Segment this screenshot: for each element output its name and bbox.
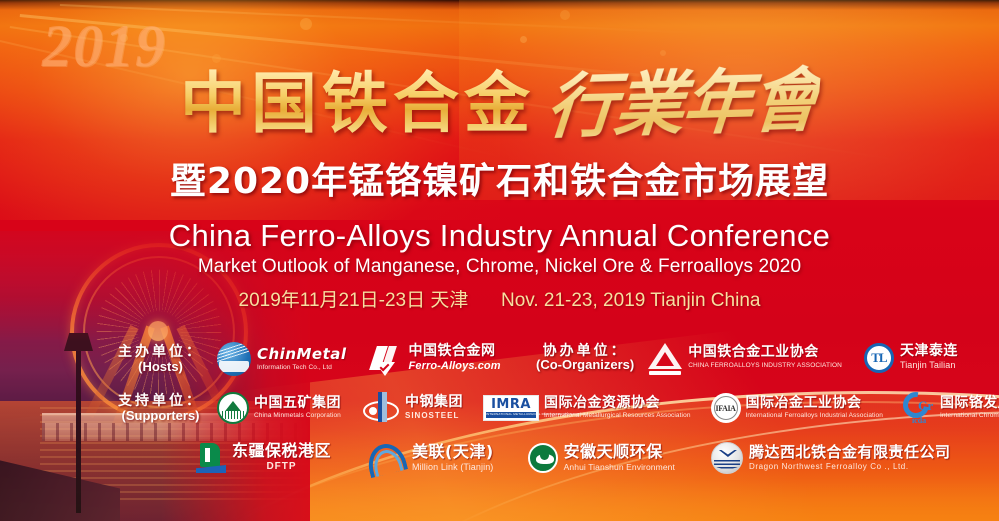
logo-imra: IMRAINTERNATIONAL METALLURGICAL RESOURCE… bbox=[483, 395, 691, 421]
supporters-label: 支持单位： (Supporters) bbox=[118, 392, 203, 423]
logo-anhui-tianshun-name: 安徽天顺环保 bbox=[564, 443, 675, 461]
logo-cfia: 中国铁合金工业协会 CHINA FERROALLOYS INDUSTRY ASS… bbox=[648, 343, 842, 373]
sponsor-row-supporters: 支持单位： (Supporters) 中国五矿集团 China Minmetal… bbox=[118, 392, 999, 424]
main-title-calligraphy: 行業年會 bbox=[543, 44, 824, 152]
logo-million-link-name: 美联(天津) bbox=[412, 443, 494, 461]
million-link-icon bbox=[367, 444, 407, 472]
logo-million-link: 美联(天津) Million Link (Tianjin) bbox=[367, 443, 494, 473]
logo-anhui-tianshun: 安徽天顺环保 Anhui Tianshun Environment bbox=[528, 443, 675, 473]
china-minmetals-icon bbox=[217, 392, 249, 424]
logo-anhui-tianshun-tagline: Anhui Tianshun Environment bbox=[564, 462, 675, 473]
logo-cfia-name: 中国铁合金工业协会 bbox=[688, 345, 842, 360]
icda-icon: Cricda bbox=[903, 392, 937, 424]
logo-dftp-name: 东疆保税港区 bbox=[232, 442, 331, 460]
main-title-chinese: 中国铁合金 bbox=[180, 50, 535, 146]
title-english-line2: Market Outlook of Manganese, Chrome, Nic… bbox=[0, 256, 999, 278]
ifaia-icon: IFAIA bbox=[711, 393, 741, 423]
imra-icon: IMRAINTERNATIONAL METALLURGICAL RESOURCE… bbox=[483, 395, 539, 421]
sponsor-row-co-organizers: 协办单位： (Co-Organizers) 中国铁合金工业协会 CHINA FE… bbox=[536, 342, 972, 373]
event-date-english: Nov. 21-23, 2019 Tianjin China bbox=[501, 290, 760, 311]
logo-dragon-northwest-name: 腾达西北铁合金有限责任公司 bbox=[749, 444, 951, 461]
co-organizers-label: 协办单位： (Co-Organizers) bbox=[536, 342, 634, 373]
logo-imra-name: 国际冶金资源协会 bbox=[544, 396, 691, 411]
logo-dragon-northwest: 腾达西北铁合金有限责任公司 Dragon Northwest Ferroallo… bbox=[711, 442, 951, 474]
logo-dftp-tagline: DFTP bbox=[232, 461, 331, 474]
co-organizers-label-en: (Co-Organizers) bbox=[536, 358, 634, 373]
logo-ferro-alloys-url: Ferro-Alloys.com bbox=[409, 360, 501, 374]
dragon-northwest-icon bbox=[711, 442, 743, 474]
logo-ferro-alloys: 中国铁合金网 Ferro-Alloys.com bbox=[371, 344, 501, 374]
logo-icda: Cricda 国际铬发展协会 International Chrome Deve… bbox=[903, 392, 999, 424]
logo-dftp: 东疆保税港区 DFTP bbox=[196, 442, 331, 473]
sponsor-row-hosts: 主办单位： (Hosts) ChinMetal Information Tech… bbox=[118, 342, 515, 376]
supporters-label-cn: 支持单位： bbox=[118, 392, 203, 408]
cfia-icon bbox=[648, 343, 682, 373]
logo-sinosteel-name: 中钢集团 bbox=[405, 395, 463, 410]
logo-sinosteel-tagline: SINOSTEEL bbox=[405, 411, 463, 421]
logo-icda-tagline: International Chrome Development Associa… bbox=[940, 412, 999, 420]
logo-ifaia-tagline: International Ferroalloys Industrial Ass… bbox=[746, 412, 883, 420]
sinosteel-icon bbox=[361, 392, 401, 424]
logo-chinmetal: ChinMetal Information Tech Co., Ltd bbox=[217, 342, 347, 376]
conference-banner: 2019 中国铁合金 行業年會 暨2020年锰铬镍矿石和铁合金市场展望 Chin… bbox=[0, 0, 999, 521]
logo-china-minmetals-tagline: China Minmetals Corporation bbox=[254, 412, 341, 420]
logo-chinmetal-tagline: Information Tech Co., Ltd bbox=[257, 364, 347, 372]
event-date-chinese: 2019年11月21日-23日 天津 bbox=[239, 290, 469, 311]
sponsor-row-supporters-2: 东疆保税港区 DFTP 美联(天津) Million Link (Tianjin… bbox=[196, 442, 964, 474]
logo-tianjin-tailian-name: 天津泰连 bbox=[900, 344, 958, 359]
subtitle-chinese: 暨2020年锰铬镍矿石和铁合金市场展望 bbox=[0, 152, 999, 204]
logo-million-link-tagline: Million Link (Tianjin) bbox=[412, 462, 494, 473]
hosts-label-cn: 主办单位： bbox=[118, 343, 203, 359]
logo-sinosteel: 中钢集团 SINOSTEEL bbox=[361, 392, 463, 424]
sponsors-section: 主办单位： (Hosts) ChinMetal Information Tech… bbox=[0, 336, 999, 516]
supporters-label-en: (Supporters) bbox=[118, 409, 203, 424]
hosts-label: 主办单位： (Hosts) bbox=[118, 343, 203, 374]
hosts-label-en: (Hosts) bbox=[118, 360, 203, 375]
logo-icda-name: 国际铬发展协会 bbox=[940, 396, 999, 411]
logo-ferro-alloys-name: 中国铁合金网 bbox=[409, 344, 501, 359]
event-date-line: 2019年11月21日-23日 天津 Nov. 21-23, 2019 Tian… bbox=[0, 285, 999, 312]
logo-chinmetal-name: ChinMetal bbox=[257, 346, 347, 363]
chinmetal-globe-icon bbox=[217, 342, 251, 376]
tianjin-tailian-icon: TL bbox=[864, 343, 894, 373]
ferro-alloys-icon bbox=[371, 344, 407, 374]
logo-ifaia-name: 国际冶金工业协会 bbox=[746, 396, 883, 411]
main-title-row: 中国铁合金 行業年會 bbox=[0, 57, 999, 139]
logo-tianjin-tailian: TL 天津泰连 Tianjin Tailian bbox=[864, 343, 958, 373]
co-organizers-label-cn: 协办单位： bbox=[536, 342, 634, 358]
logo-tianjin-tailian-tagline: Tianjin Tailian bbox=[900, 360, 958, 371]
logo-cfia-tagline: CHINA FERROALLOYS INDUSTRY ASSOCIATION bbox=[688, 362, 842, 370]
title-english-line1: China Ferro-Alloys Industry Annual Confe… bbox=[0, 218, 999, 254]
logo-ifaia: IFAIA 国际冶金工业协会 International Ferroalloys… bbox=[711, 393, 883, 423]
anhui-tianshun-icon bbox=[528, 443, 558, 473]
logo-china-minmetals: 中国五矿集团 China Minmetals Corporation bbox=[217, 392, 341, 424]
logo-china-minmetals-name: 中国五矿集团 bbox=[254, 396, 341, 411]
dftp-icon bbox=[196, 443, 226, 473]
logo-dragon-northwest-tagline: Dragon Northwest Ferroalloy Co ., Ltd. bbox=[749, 462, 951, 472]
